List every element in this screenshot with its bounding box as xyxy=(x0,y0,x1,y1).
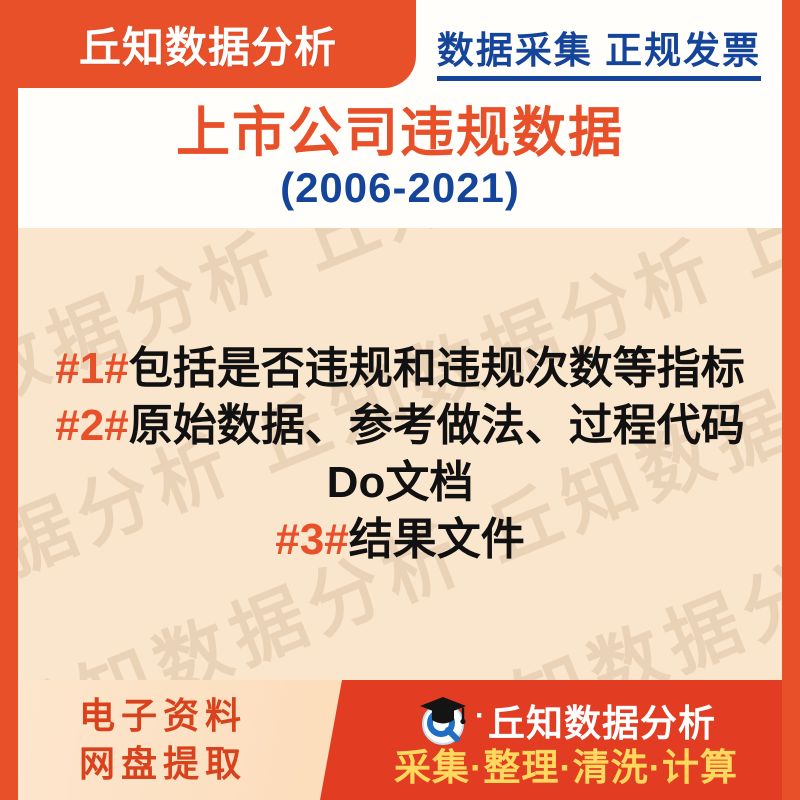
brand-banner: 丘知数据分析 xyxy=(0,0,416,88)
tagline-container: 数据采集 正规发票 xyxy=(416,0,782,88)
bullet-marker: #3# xyxy=(275,515,348,564)
list-item: #3#结果文件 xyxy=(32,511,768,568)
footer-services-label: 采集·整理·清洗·计算 xyxy=(394,749,738,788)
footer-right-block: · 丘知数据分析 采集·整理·清洗·计算 xyxy=(312,680,782,800)
bullet-text: 包括是否违规和违规次数等指标 xyxy=(129,344,745,393)
footer-brand-label: 丘知数据分析 xyxy=(488,693,716,747)
title-block: 上市公司违规数据 (2006-2021) xyxy=(18,88,782,228)
graduation-cap-magnifier-logo-icon xyxy=(416,693,470,747)
content-panel: 丘知数据分析 丘知数据分析 丘知数据分析 丘知数据分析 丘知数据分析 丘知数据分… xyxy=(18,228,782,680)
footer-brand-row: · 丘知数据分析 xyxy=(416,693,716,747)
footer-bar: 电子资料 网盘提取 xyxy=(18,680,782,800)
footer-delivery-line-1: 电子资料 xyxy=(79,692,247,740)
list-item: #1#包括是否违规和违规次数等指标 xyxy=(32,340,768,397)
feature-list: #1#包括是否违规和违规次数等指标 #2#原始数据、参考做法、过程代码Do文档 … xyxy=(18,228,782,680)
separator-dot: · xyxy=(475,699,485,733)
list-item: #2#原始数据、参考做法、过程代码Do文档 xyxy=(32,397,768,511)
bullet-marker: #1# xyxy=(55,344,128,393)
brand-banner-label: 丘知数据分析 xyxy=(79,14,337,75)
bullet-text: 结果文件 xyxy=(349,515,525,564)
page-title-years: (2006-2021) xyxy=(280,165,520,211)
footer-right-inner: · 丘知数据分析 采集·整理·清洗·计算 xyxy=(358,680,774,800)
tagline-label: 数据采集 正规发票 xyxy=(437,20,761,81)
bullet-text: 原始数据、参考做法、过程代码Do文档 xyxy=(129,401,745,507)
poster-root: 丘知数据分析 数据采集 正规发票 上市公司违规数据 (2006-2021) 丘知… xyxy=(0,0,800,800)
footer-delivery-line-2: 网盘提取 xyxy=(79,740,247,788)
page-title: 上市公司违规数据 xyxy=(176,105,624,162)
bullet-marker: #2# xyxy=(55,401,128,450)
